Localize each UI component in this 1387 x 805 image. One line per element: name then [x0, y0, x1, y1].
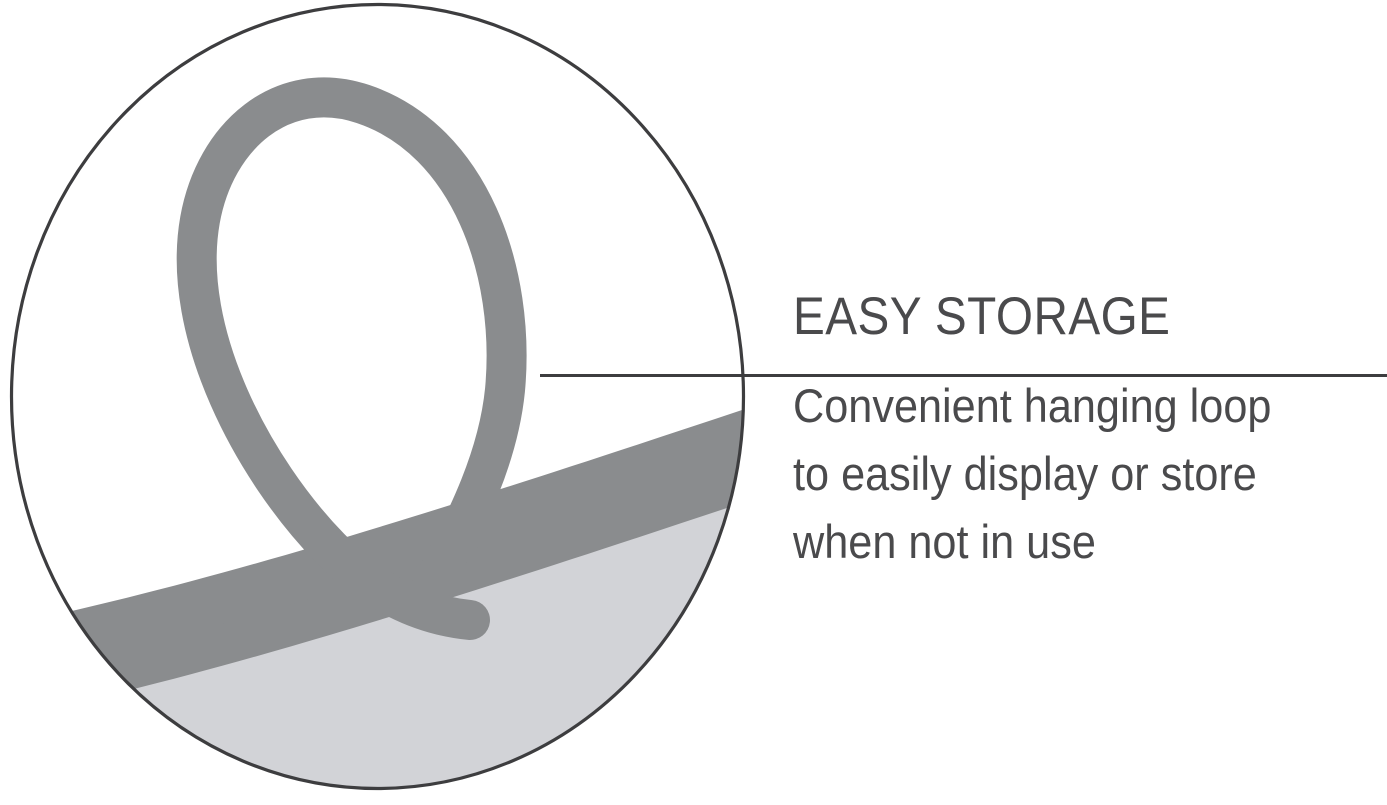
- feature-description-line-1: Convenient hanging loop: [793, 372, 1339, 440]
- feature-description-line-3: when not in use: [793, 508, 1339, 576]
- feature-title: EASY STORAGE: [793, 288, 1328, 346]
- feature-description-line-2: to easily display or store: [793, 440, 1339, 508]
- hanging-loop-illustration: [0, 0, 780, 805]
- feature-description: Convenient hanging loop to easily displa…: [793, 346, 1339, 576]
- hanging-loop: [197, 97, 507, 620]
- feature-callout: EASY STORAGE Convenient hanging loop to …: [0, 0, 1387, 805]
- callout-text-block: EASY STORAGE Convenient hanging loop to …: [793, 288, 1387, 576]
